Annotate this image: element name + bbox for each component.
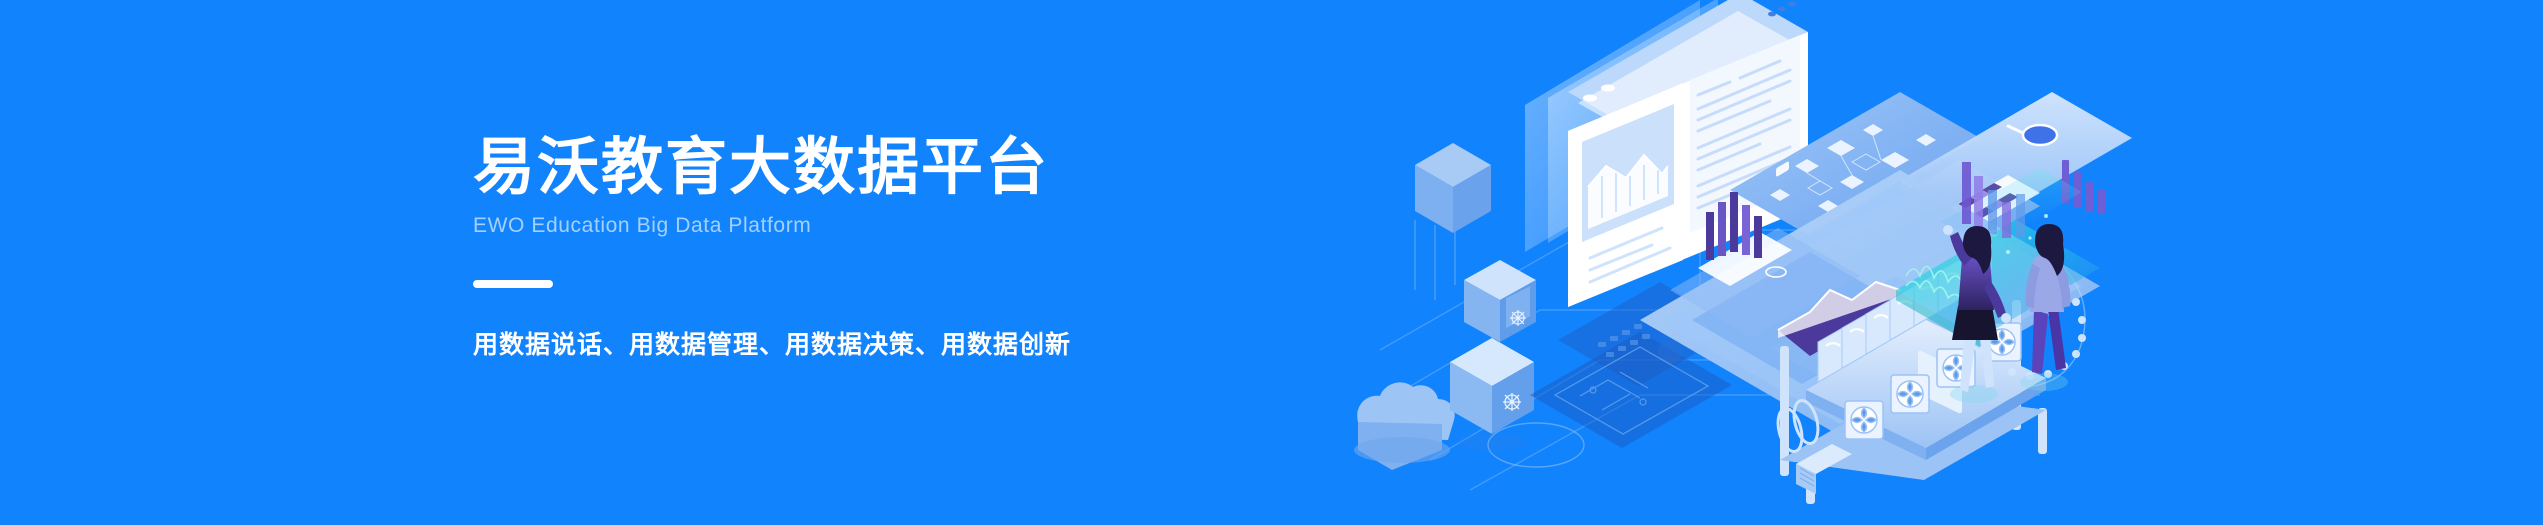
- cube-icon-upper: [1415, 143, 1491, 233]
- safe-box-icon-upper: [1464, 260, 1536, 342]
- page-tagline: 用数据说话、用数据管理、用数据决策、用数据创新: [473, 328, 1233, 362]
- divider-rule: [473, 280, 553, 288]
- page-subtitle: EWO Education Big Data Platform: [473, 212, 1233, 240]
- page-title: 易沃教育大数据平台: [473, 130, 1233, 206]
- isometric-illustration: [1340, 0, 2340, 525]
- hero-banner: 易沃教育大数据平台 EWO Education Big Data Platfor…: [0, 0, 2543, 525]
- safe-box-icon-lower: [1450, 338, 1534, 451]
- cloud-icon: [1354, 382, 1455, 470]
- hero-copy-block: 易沃教育大数据平台 EWO Education Big Data Platfor…: [473, 130, 1233, 362]
- thin-grid-lines: [1415, 220, 1455, 300]
